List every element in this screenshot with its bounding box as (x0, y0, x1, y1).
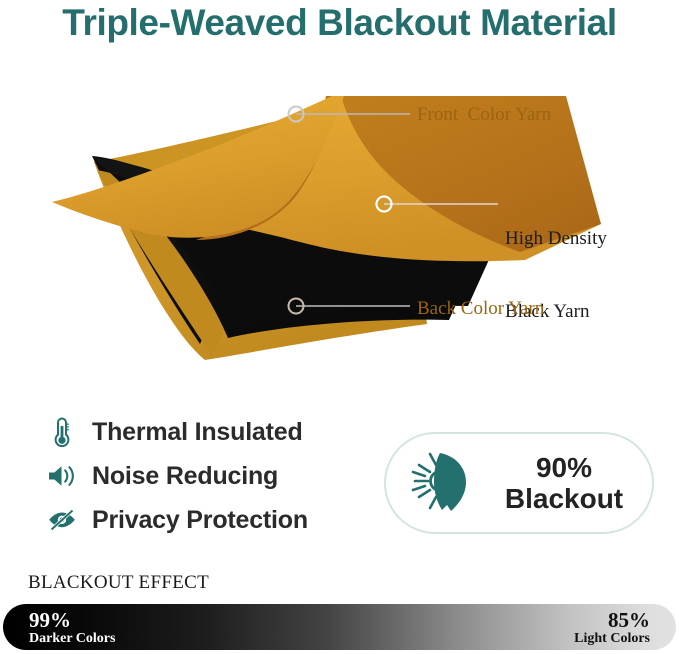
page-title: Triple-Weaved Blackout Material (0, 2, 679, 44)
feature-item-thermal: Thermal Insulated (42, 410, 362, 454)
eye-slash-icon (42, 508, 82, 532)
callout-label-front: Front Color Yarn (417, 104, 551, 126)
speaker-sound-icon (42, 463, 82, 489)
feature-label-thermal: Thermal Insulated (92, 418, 303, 447)
blackout-effect-right-label: Light Colors (574, 631, 650, 646)
blackout-effect-left-percent: 99% (29, 609, 115, 631)
callout-label-middle-line1: High Density (505, 227, 607, 251)
callout-label-back: Back Color Yarn (417, 298, 544, 320)
blackout-effect-right: 85% Light Colors (574, 609, 650, 646)
blackout-badge-text: 90% Blackout (494, 452, 634, 515)
blackout-word: Blackout (494, 483, 634, 514)
blackout-effect-gradient-bar: 99% Darker Colors 85% Light Colors (3, 604, 676, 650)
feature-list: Thermal Insulated Noise Reducing (42, 410, 362, 542)
callout-label-middle: High Density Black Yarn (505, 178, 607, 373)
infographic-page: Triple-Weaved Blackout Material (0, 0, 679, 654)
feature-label-privacy: Privacy Protection (92, 506, 308, 535)
sun-blocked-icon (408, 450, 480, 516)
feature-item-privacy: Privacy Protection (42, 498, 362, 542)
blackout-effect-right-percent: 85% (574, 609, 650, 631)
feature-label-noise: Noise Reducing (92, 462, 278, 491)
thermometer-icon (42, 416, 82, 448)
blackout-effect-left-label: Darker Colors (29, 631, 115, 646)
feature-item-noise: Noise Reducing (42, 454, 362, 498)
blackout-effect-heading: BLACKOUT EFFECT (28, 572, 209, 594)
blackout-effect-left: 99% Darker Colors (29, 609, 115, 646)
blackout-badge: 90% Blackout (384, 432, 654, 534)
blackout-percent: 90% (494, 452, 634, 483)
